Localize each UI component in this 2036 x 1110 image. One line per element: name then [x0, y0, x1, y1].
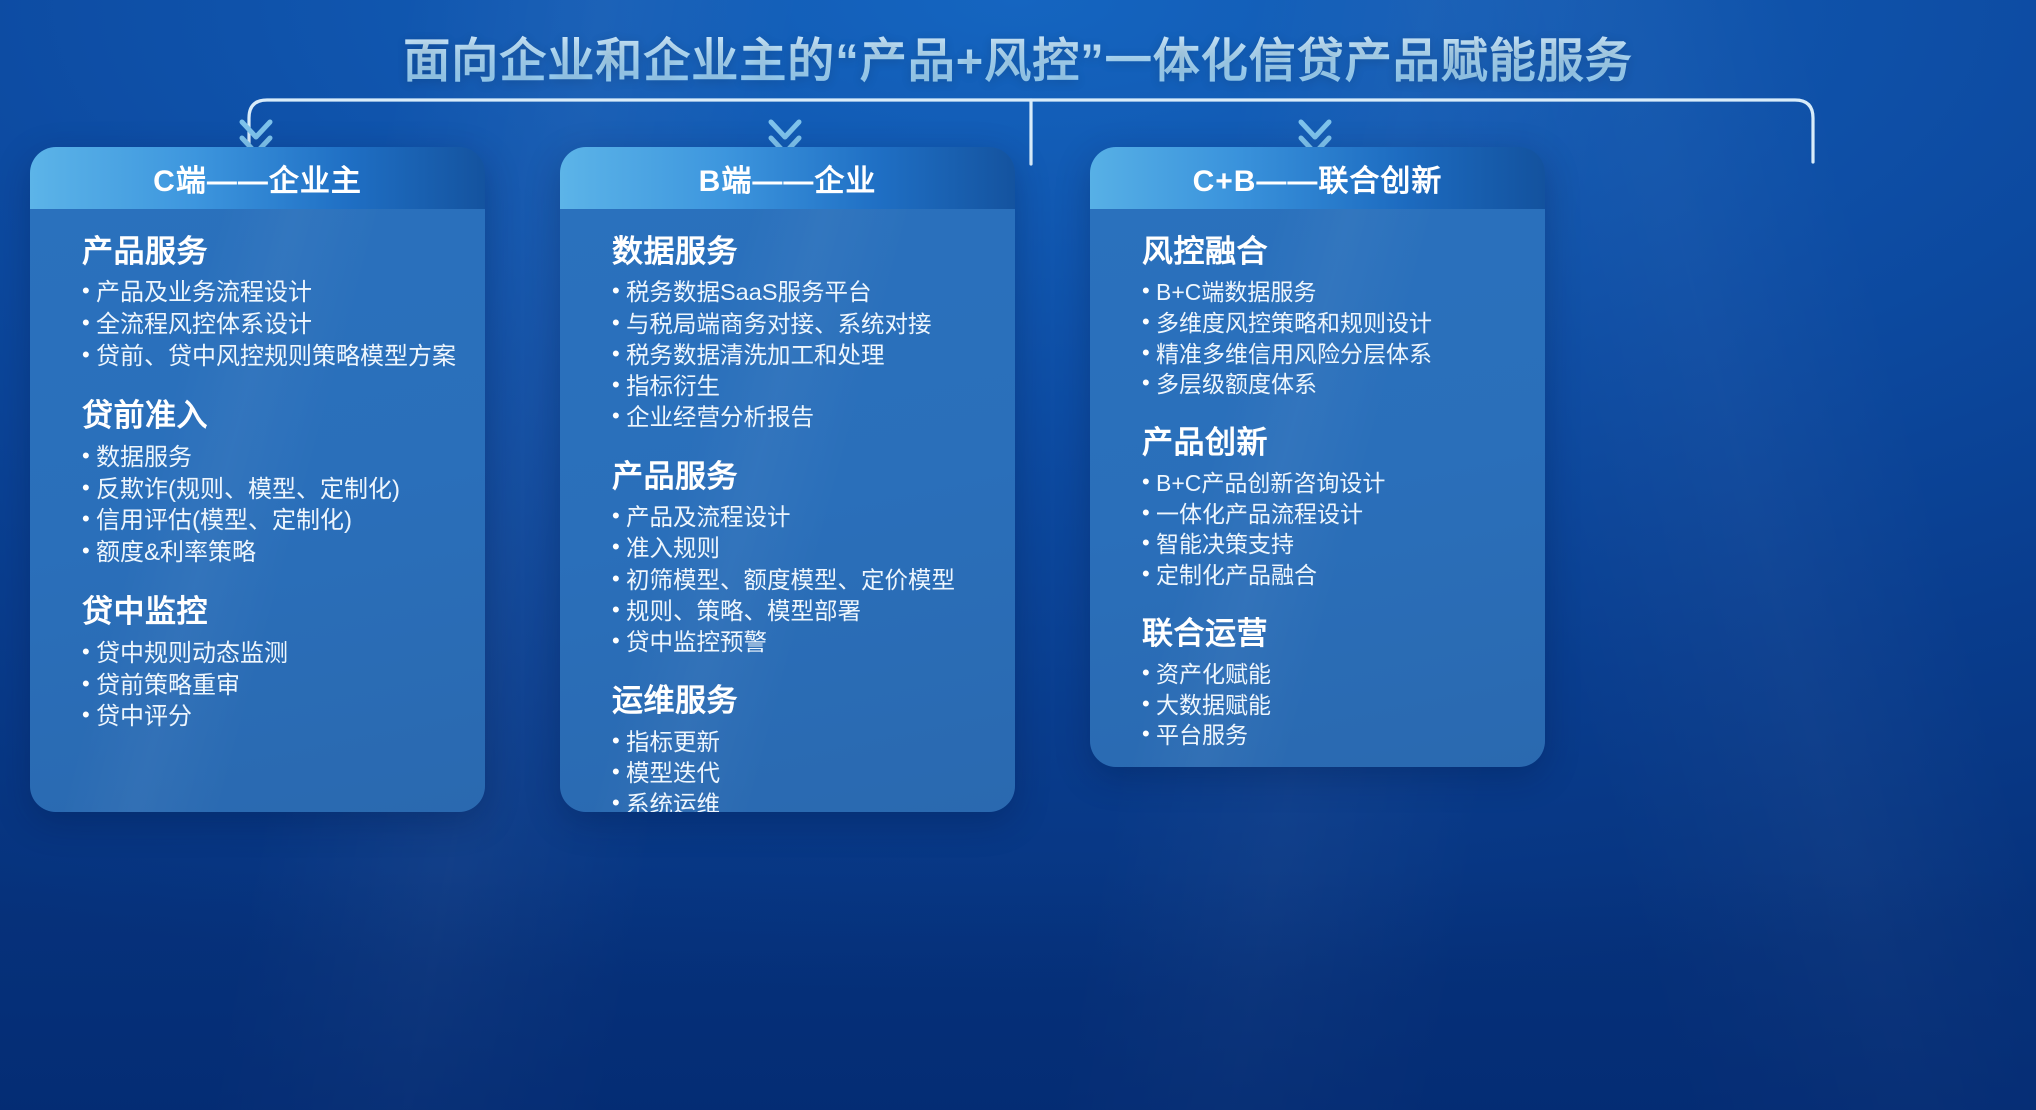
group-block: 数据服务 税务数据SaaS服务平台 与税局端商务对接、系统对接 税务数据清洗加工… — [612, 233, 1015, 434]
card-columns: C端——企业主 产品服务 产品及业务流程设计 全流程风控体系设计 贷前、贷中风控… — [0, 147, 2036, 827]
list-item: 反欺诈(规则、模型、定制化) — [82, 474, 485, 506]
list-item: 大数据赋能 — [1142, 690, 1545, 721]
card-header-cb-joint: C+B——联合创新 — [1090, 147, 1545, 209]
list-item: 额度&利率策略 — [82, 537, 485, 569]
list-item: 模型迭代 — [612, 758, 1015, 789]
group-block: 产品服务 产品及业务流程设计 全流程风控体系设计 贷前、贷中风控规则策略模型方案 — [82, 233, 485, 373]
bullet-list: 税务数据SaaS服务平台 与税局端商务对接、系统对接 税务数据清洗加工和处理 指… — [612, 277, 1015, 433]
card-body-b-end: 数据服务 税务数据SaaS服务平台 与税局端商务对接、系统对接 税务数据清洗加工… — [560, 209, 1015, 812]
list-item: 准入规则 — [612, 533, 1015, 564]
list-item: B+C产品创新咨询设计 — [1142, 468, 1545, 499]
list-item: 与税局端商务对接、系统对接 — [612, 309, 1015, 340]
page-title: 面向企业和企业主的“产品+风控”一体化信贷产品赋能服务 — [0, 22, 2036, 91]
group-title: 产品创新 — [1142, 424, 1545, 462]
list-item: 多维度风控策略和规则设计 — [1142, 308, 1545, 339]
bullet-list: B+C端数据服务 多维度风控策略和规则设计 精准多维信用风险分层体系 多层级额度… — [1142, 277, 1545, 399]
list-item: 贷前、贷中风控规则策略模型方案 — [82, 341, 485, 373]
list-item: 税务数据SaaS服务平台 — [612, 277, 1015, 308]
bullet-list: 产品及流程设计 准入规则 初筛模型、额度模型、定价模型 规则、策略、模型部署 贷… — [612, 502, 1015, 658]
list-item: 精准多维信用风险分层体系 — [1142, 339, 1545, 370]
card-body-cb-joint: 风控融合 B+C端数据服务 多维度风控策略和规则设计 精准多维信用风险分层体系 … — [1090, 209, 1545, 767]
list-item: 产品及业务流程设计 — [82, 277, 485, 309]
bullet-list: B+C产品创新咨询设计 一体化产品流程设计 智能决策支持 定制化产品融合 — [1142, 468, 1545, 590]
bullet-list: 指标更新 模型迭代 系统运维 — [612, 727, 1015, 812]
list-item: 指标衍生 — [612, 371, 1015, 402]
list-item: 初筛模型、额度模型、定价模型 — [612, 565, 1015, 596]
background-bottom-glow — [0, 870, 2036, 1110]
card-column-cb-joint: C+B——联合创新 风控融合 B+C端数据服务 多维度风控策略和规则设计 精准多… — [1090, 147, 1545, 767]
bullet-list: 资产化赋能 大数据赋能 平台服务 — [1142, 659, 1545, 751]
group-title: 运维服务 — [612, 682, 1015, 720]
list-item: B+C端数据服务 — [1142, 277, 1545, 308]
list-item: 定制化产品融合 — [1142, 560, 1545, 591]
card-column-b-end: B端——企业 数据服务 税务数据SaaS服务平台 与税局端商务对接、系统对接 税… — [560, 147, 1015, 812]
group-title: 数据服务 — [612, 233, 1015, 271]
list-item: 指标更新 — [612, 727, 1015, 758]
slide-root: 面向企业和企业主的“产品+风控”一体化信贷产品赋能服务 C端——企业主 产品服务… — [0, 0, 2036, 1110]
list-item: 贷中监控预警 — [612, 627, 1015, 658]
list-item: 多层级额度体系 — [1142, 369, 1545, 400]
list-item: 系统运维 — [612, 789, 1015, 812]
list-item: 全流程风控体系设计 — [82, 309, 485, 341]
group-title: 产品服务 — [82, 233, 485, 271]
card-header-b-end: B端——企业 — [560, 147, 1015, 209]
list-item: 贷前策略重审 — [82, 670, 485, 702]
group-block: 风控融合 B+C端数据服务 多维度风控策略和规则设计 精准多维信用风险分层体系 … — [1142, 233, 1545, 400]
group-block: 联合运营 资产化赋能 大数据赋能 平台服务 — [1142, 615, 1545, 751]
list-item: 智能决策支持 — [1142, 529, 1545, 560]
list-item: 税务数据清洗加工和处理 — [612, 340, 1015, 371]
list-item: 产品及流程设计 — [612, 502, 1015, 533]
list-item: 规则、策略、模型部署 — [612, 596, 1015, 627]
card-column-c-end: C端——企业主 产品服务 产品及业务流程设计 全流程风控体系设计 贷前、贷中风控… — [30, 147, 485, 812]
group-title: 风控融合 — [1142, 233, 1545, 271]
list-item: 信用评估(模型、定制化) — [82, 505, 485, 537]
list-item: 贷中规则动态监测 — [82, 638, 485, 670]
list-item: 数据服务 — [82, 442, 485, 474]
group-title: 产品服务 — [612, 458, 1015, 496]
group-title: 贷前准入 — [82, 397, 485, 435]
bullet-list: 数据服务 反欺诈(规则、模型、定制化) 信用评估(模型、定制化) 额度&利率策略 — [82, 442, 485, 570]
list-item: 贷中评分 — [82, 701, 485, 733]
group-block: 产品服务 产品及流程设计 准入规则 初筛模型、额度模型、定价模型 规则、策略、模… — [612, 458, 1015, 659]
group-title: 联合运营 — [1142, 615, 1545, 653]
list-item: 一体化产品流程设计 — [1142, 499, 1545, 530]
list-item: 资产化赋能 — [1142, 659, 1545, 690]
list-item: 企业经营分析报告 — [612, 402, 1015, 433]
group-title: 贷中监控 — [82, 593, 485, 631]
group-block: 贷前准入 数据服务 反欺诈(规则、模型、定制化) 信用评估(模型、定制化) 额度… — [82, 397, 485, 569]
card-header-c-end: C端——企业主 — [30, 147, 485, 209]
group-block: 产品创新 B+C产品创新咨询设计 一体化产品流程设计 智能决策支持 定制化产品融… — [1142, 424, 1545, 591]
bullet-list: 贷中规则动态监测 贷前策略重审 贷中评分 — [82, 638, 485, 734]
group-block: 运维服务 指标更新 模型迭代 系统运维 — [612, 682, 1015, 812]
group-block: 贷中监控 贷中规则动态监测 贷前策略重审 贷中评分 — [82, 593, 485, 733]
card-body-c-end: 产品服务 产品及业务流程设计 全流程风控体系设计 贷前、贷中风控规则策略模型方案… — [30, 209, 485, 812]
list-item: 平台服务 — [1142, 720, 1545, 751]
bullet-list: 产品及业务流程设计 全流程风控体系设计 贷前、贷中风控规则策略模型方案 — [82, 277, 485, 373]
